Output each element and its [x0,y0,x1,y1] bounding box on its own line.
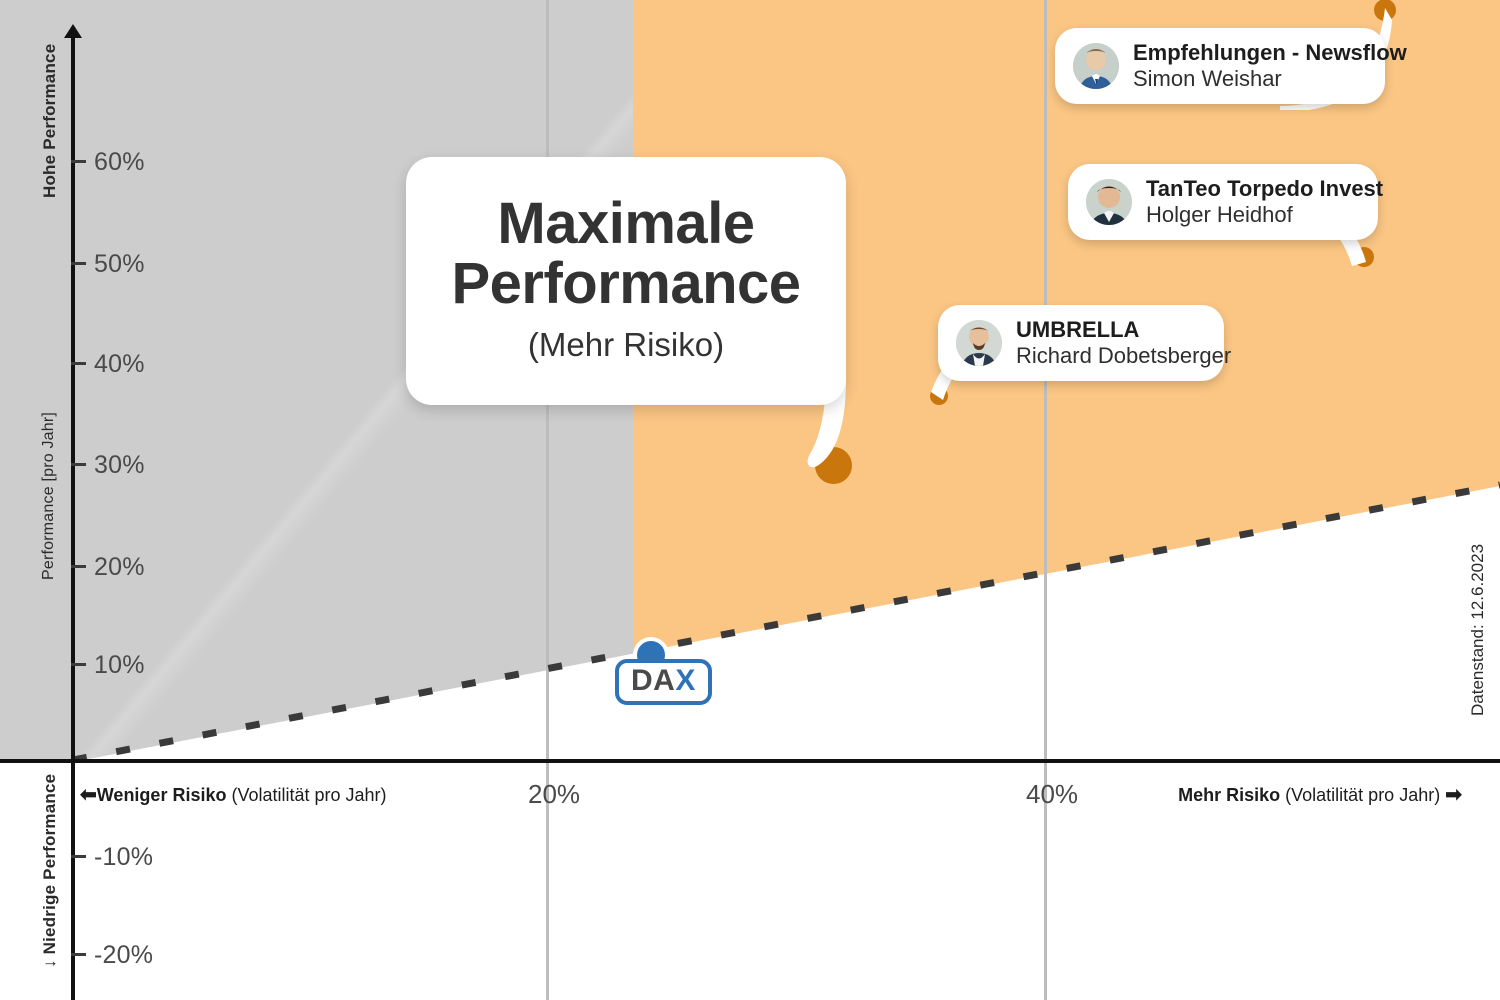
headline-subtitle: (Mehr Risiko) [528,326,724,364]
avatar-holger-heidhof [1086,179,1132,225]
y-tick-label: 50% [94,250,145,278]
y-tick-label: -20% [94,941,153,969]
callout-newsflow[interactable]: Empfehlungen - Newsflow Simon Weishar [1055,28,1385,104]
dax-label: DAX [615,659,712,705]
y-axis-title-unit: [pro Jahr] [40,412,57,482]
y-tick-40: 40% [71,350,145,379]
x-axis-label-right-bold: Mehr Risiko [1178,785,1280,805]
y-tick-label: 10% [94,651,145,679]
callout-tanteo-title: TanTeo Torpedo Invest [1146,176,1383,202]
x-axis-line [0,759,1500,763]
data-point-dax[interactable]: DAX [615,637,707,703]
y-axis-title-low-performance: ↓ Niedrige Performance [40,774,60,968]
tick-mark-icon [71,262,86,265]
x-axis-label-right-unit: (Volatilität pro Jahr) [1285,785,1440,805]
headline-callout: Maximale Performance (Mehr Risiko) [406,157,846,405]
callout-newsflow-text: Empfehlungen - Newsflow Simon Weishar [1133,40,1407,92]
x-axis-label-left-bold: Weniger Risiko [97,785,227,805]
y-tick-30: 30% [71,451,145,480]
dax-label-accent: X [675,664,696,697]
callout-umbrella[interactable]: UMBRELLA Richard Dobetsberger [938,305,1224,381]
gridline-x-20 [546,0,549,1000]
tick-mark-icon [71,663,86,666]
tick-mark-icon [71,463,86,466]
callout-tanteo[interactable]: TanTeo Torpedo Invest Holger Heidhof [1068,164,1378,240]
y-axis-title-high-performance: Hohe Performance [40,44,60,198]
avatar-richard-dobetsberger [956,320,1002,366]
left-arrow-icon: ⬅ [80,784,97,806]
y-tick-minus-10: -10% [71,843,153,872]
tick-mark-icon [71,565,86,568]
tick-mark-icon [71,160,86,163]
tick-mark-icon [71,362,86,365]
tick-mark-icon [71,855,86,858]
callout-tanteo-name: Holger Heidhof [1146,202,1383,228]
risk-performance-chart: 60% 50% 40% 30% 20% 10% -10% -20% 20% 40… [0,0,1500,1000]
avatar-simon-weishar [1073,43,1119,89]
y-axis-arrow-icon [64,24,82,38]
headline-line-2: Performance [451,254,800,314]
y-tick-60: 60% [71,148,145,177]
y-tick-label: -10% [94,843,153,871]
y-tick-label: 20% [94,553,145,581]
callout-umbrella-title: UMBRELLA [1016,317,1231,343]
y-tick-10: 10% [71,651,145,680]
callout-umbrella-name: Richard Dobetsberger [1016,343,1231,369]
y-tick-50: 50% [71,250,145,279]
dax-label-dark: DA [631,664,675,697]
y-tick-label: 40% [94,350,145,378]
callout-newsflow-title: Empfehlungen - Newsflow [1133,40,1407,66]
right-arrow-icon: ➡ [1445,784,1462,806]
y-axis-title-performance: Performance [pro Jahr] [40,412,58,580]
y-tick-label: 60% [94,148,145,176]
gridline-x-40 [1044,0,1047,1000]
datestamp: Datenstand: 12.6.2023 [1468,544,1488,716]
y-tick-20: 20% [71,553,145,582]
headline-line-1: Maximale [497,194,754,254]
x-tick-20: 20% [528,779,580,810]
x-axis-label-right: Mehr Risiko (Volatilität pro Jahr) ➡ [1178,782,1462,807]
x-tick-40: 40% [1026,779,1078,810]
y-axis-title-low-label: Niedrige Performance [40,774,59,955]
y-axis-title-main: Performance [40,486,57,580]
callout-umbrella-text: UMBRELLA Richard Dobetsberger [1016,317,1231,369]
y-tick-minus-20: -20% [71,941,153,970]
x-axis-label-left: ⬅Weniger Risiko (Volatilität pro Jahr) [80,782,387,807]
callout-tanteo-text: TanTeo Torpedo Invest Holger Heidhof [1146,176,1383,228]
callout-newsflow-name: Simon Weishar [1133,66,1407,92]
x-axis-label-left-unit: (Volatilität pro Jahr) [231,785,386,805]
tick-mark-icon [71,953,86,956]
y-tick-label: 30% [94,451,145,479]
